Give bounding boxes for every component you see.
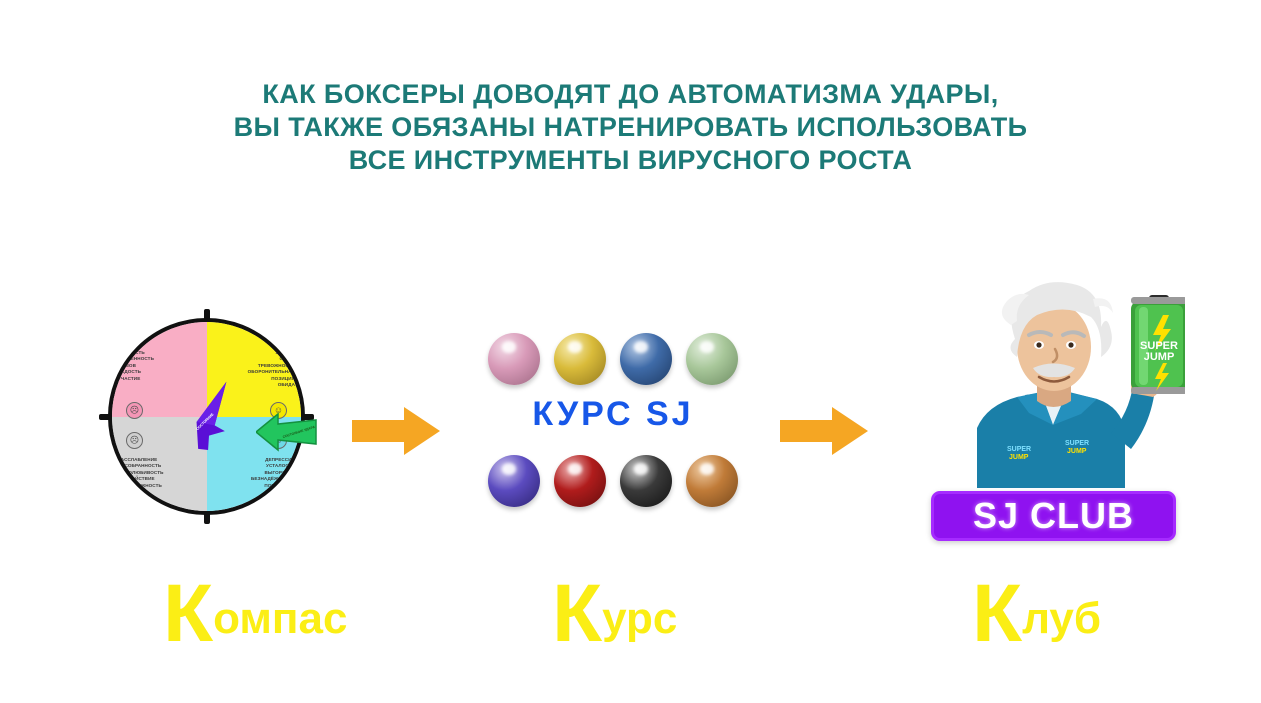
compass-words-anger: ЗЛОСТЬ СТРАХ ТРЕВОЖНОСТЬ ОБОРОНИТЕЛЬНАЯ … (248, 350, 295, 388)
course-block: КУРС SJ (488, 333, 738, 513)
caption-klub-initial: К (972, 568, 1022, 659)
blue-sphere (620, 333, 672, 385)
svg-text:JUMP: JUMP (1144, 351, 1175, 363)
sad-face-icon: ☹ (126, 432, 143, 449)
course-title: КУРС SJ (488, 395, 738, 434)
sphere-row-top (488, 333, 738, 391)
caption-kompas-rest: омпас (213, 594, 347, 643)
gold-sphere (554, 333, 606, 385)
caption-row: Компас Курс Клуб (0, 565, 1261, 675)
sj-club-badge: SJ CLUB (931, 491, 1176, 541)
stage-row: ЗЛОСТЬ СТРАХ ТРЕВОЖНОСТЬ ОБОРОНИТЕЛЬНАЯ … (0, 255, 1261, 545)
compass-words-calm: РАССЛАБЛЕНИЕ НЕСОБРАННОСТЬ МИРОЛЮБИВОСТЬ… (118, 457, 164, 489)
title-line-2: ВЫ ТАКЖЕ ОБЯЗАНЫ НАТРЕНИРОВАТЬ ИСПОЛЬЗОВ… (0, 111, 1261, 144)
green-sphere (686, 333, 738, 385)
svg-text:JUMP: JUMP (1009, 454, 1029, 461)
caption-kompas-initial: К (163, 568, 213, 659)
arrow-course-to-club-icon (780, 405, 868, 457)
pink-sphere (488, 333, 540, 385)
green-arrow-icon: СОСТОЯНИЕ УДАРА (256, 410, 318, 454)
svg-text:SUPER: SUPER (1007, 446, 1031, 453)
title-line-1: КАК БОКСЕРЫ ДОВОДЯТ ДО АВТОМАТИЗМА УДАРЫ… (0, 78, 1261, 111)
caption-kurs-initial: К (552, 568, 602, 659)
bronze-sphere (686, 455, 738, 507)
caption-kompas: Компас (163, 573, 347, 655)
compass-diagram: ЗЛОСТЬ СТРАХ ТРЕВОЖНОСТЬ ОБОРОНИТЕЛЬНАЯ … (108, 318, 305, 515)
caption-klub: Клуб (972, 573, 1101, 655)
caption-kurs: Курс (552, 573, 677, 655)
club-block: SUPER JUMP SUPER JUMP (925, 273, 1185, 538)
sphere-row-bottom (488, 455, 738, 513)
compass-words-energy: БОДРОСТЬ УВЕРЕННОСТЬ ВЫЗОВ РАДОСТЬ УЧАСТ… (118, 350, 154, 382)
sj-club-badge-label: SJ CLUB (973, 495, 1134, 537)
page-title: КАК БОКСЕРЫ ДОВОДЯТ ДО АВТОМАТИЗМА УДАРЫ… (0, 78, 1261, 177)
purple-sphere (488, 455, 540, 507)
compass-words-depression: ДЕПРЕССИЯ УСТАЛОСТЬ ВЫГОРАНИЕ БЕЗНАДЁЖНО… (251, 457, 295, 489)
title-line-3: ВСЕ ИНСТРУМЕНТЫ ВИРУСНОГО РОСТА (0, 144, 1261, 177)
caption-klub-rest: луб (1022, 594, 1101, 643)
caption-kurs-rest: урс (602, 594, 677, 643)
svg-text:SUPER: SUPER (1065, 440, 1089, 447)
red-sphere (554, 455, 606, 507)
arrow-compass-to-course-icon (352, 405, 440, 457)
black-sphere (620, 455, 672, 507)
einstein-photo: SUPER JUMP SUPER JUMP (925, 273, 1185, 488)
angry-face-icon: ☹ (126, 402, 143, 419)
svg-text:JUMP: JUMP (1067, 448, 1087, 455)
